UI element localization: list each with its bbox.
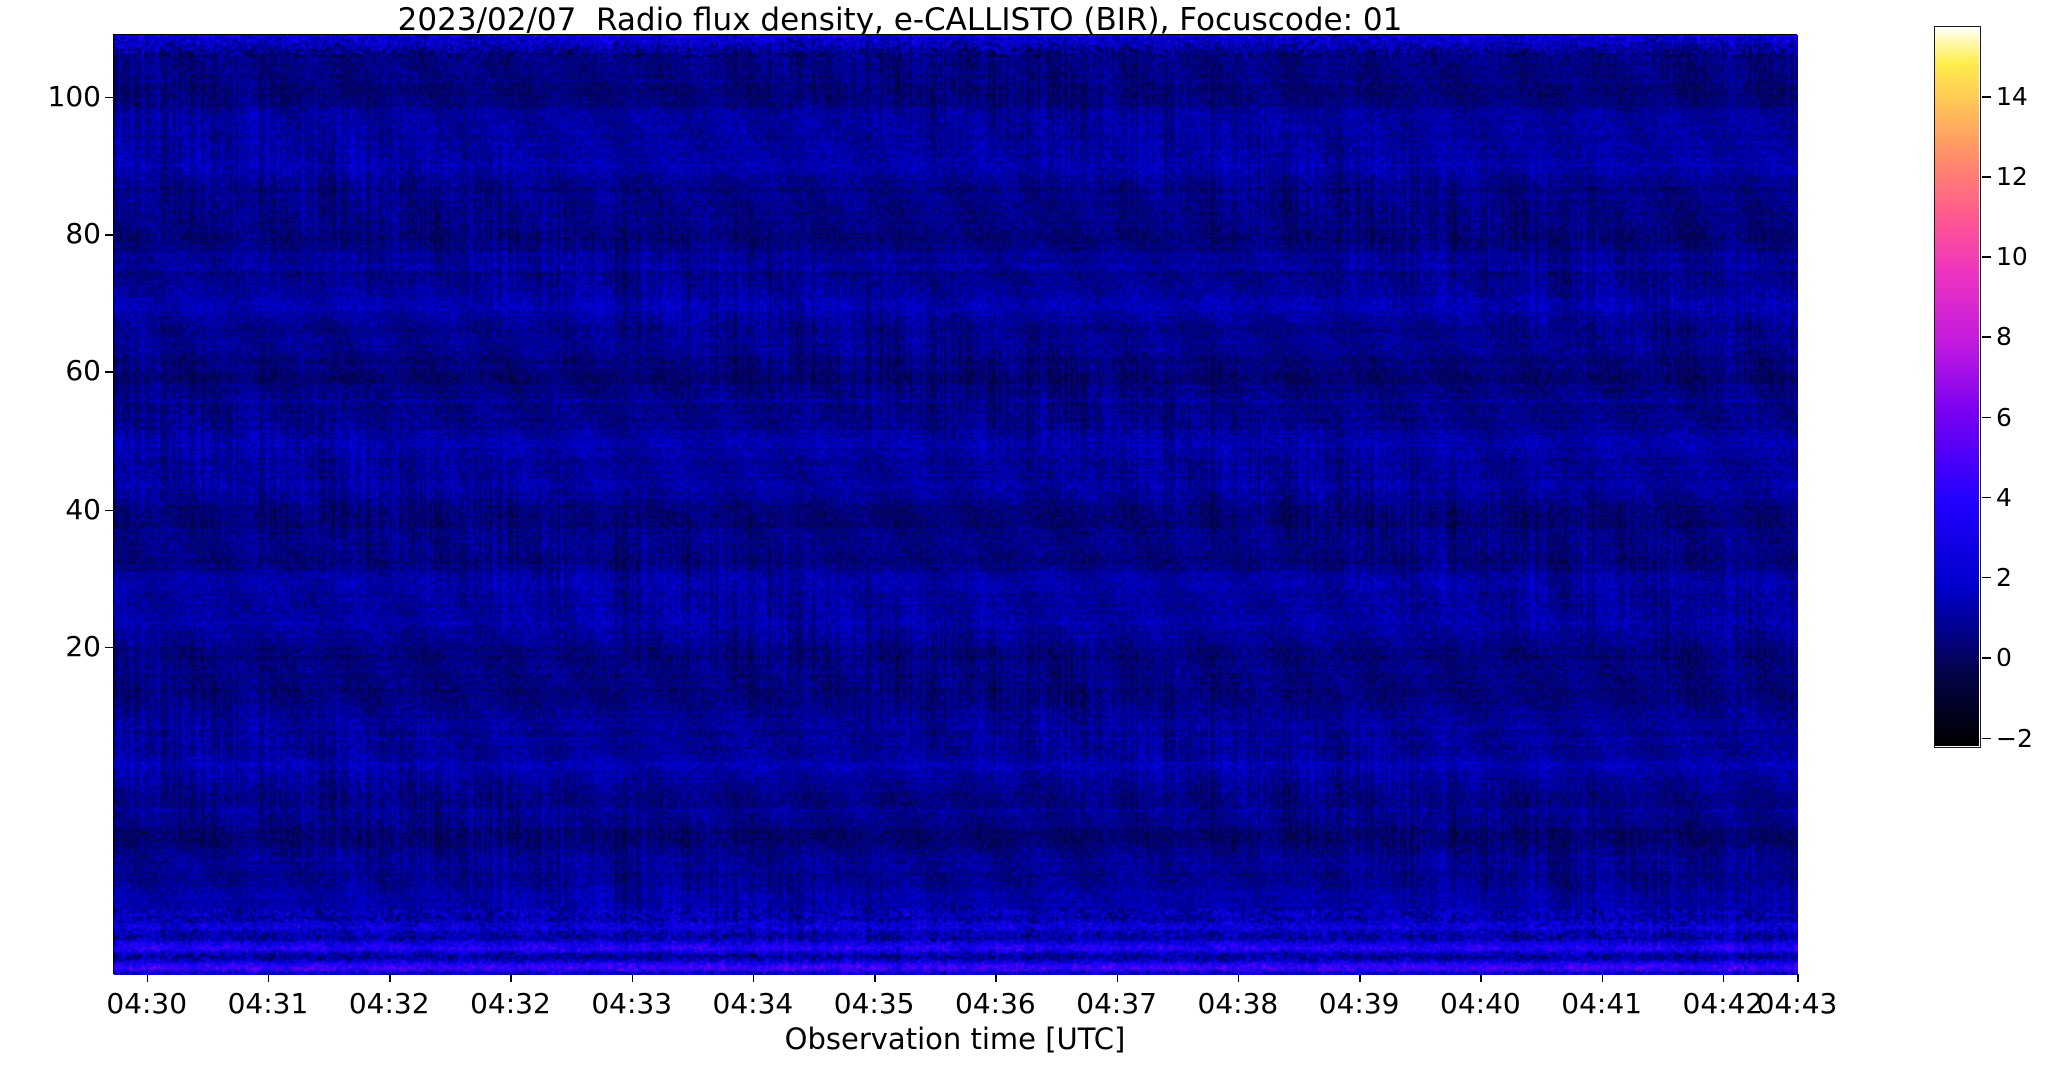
x-tick-mark — [510, 974, 512, 982]
colorbar-tick-mark — [1982, 577, 1991, 579]
colorbar-tick-mark — [1982, 336, 1991, 338]
x-tick-mark — [1723, 974, 1725, 982]
y-tick-label: 40 — [11, 496, 101, 524]
colorbar-gradient — [1935, 27, 1979, 746]
y-tick-mark — [105, 371, 113, 373]
x-tick-label: 04:33 — [567, 990, 697, 1018]
colorbar-tick-label: 14 — [1996, 84, 2028, 109]
figure-canvas: 2023/02/07 Radio flux density, e-CALLIST… — [0, 0, 2066, 1067]
x-tick-mark — [1117, 974, 1119, 982]
y-tick-mark — [105, 647, 113, 649]
x-tick-mark — [1797, 974, 1799, 982]
y-tick-label: 100 — [11, 83, 101, 111]
colorbar-tick-mark — [1982, 497, 1991, 499]
y-tick-mark — [105, 97, 113, 99]
x-tick-label: 04:43 — [1732, 990, 1862, 1018]
y-tick-label: 20 — [11, 633, 101, 661]
x-tick-label: 04:37 — [1052, 990, 1182, 1018]
colorbar-tick-mark — [1982, 738, 1991, 740]
y-tick-mark — [105, 234, 113, 236]
colorbar-tick-label: 8 — [1996, 324, 2012, 349]
y-tick-label: 60 — [11, 357, 101, 385]
x-tick-label: 04:41 — [1537, 990, 1667, 1018]
x-tick-mark — [995, 974, 997, 982]
x-tick-mark — [1238, 974, 1240, 982]
x-tick-mark — [632, 974, 634, 982]
x-tick-label: 04:39 — [1294, 990, 1424, 1018]
x-tick-label: 04:32 — [324, 990, 454, 1018]
x-tick-mark — [147, 974, 149, 982]
x-tick-mark — [268, 974, 270, 982]
colorbar-tick-mark — [1982, 417, 1991, 419]
x-tick-label: 04:38 — [1173, 990, 1303, 1018]
figure-title: 2023/02/07 Radio flux density, e-CALLIST… — [0, 2, 1800, 38]
x-tick-mark — [389, 974, 391, 982]
colorbar-tick-label: 10 — [1996, 244, 2028, 269]
x-tick-label: 04:31 — [203, 990, 333, 1018]
colorbar-tick-label: −2 — [1996, 726, 2033, 751]
y-tick-mark — [105, 510, 113, 512]
x-tick-label: 04:34 — [688, 990, 818, 1018]
x-tick-mark — [874, 974, 876, 982]
x-tick-mark — [1359, 974, 1361, 982]
x-axis-label: Observation time [UTC] — [113, 1022, 1797, 1056]
colorbar-tick-label: 2 — [1996, 565, 2012, 590]
x-tick-label: 04:35 — [809, 990, 939, 1018]
colorbar-tick-mark — [1982, 96, 1991, 98]
x-tick-label: 04:40 — [1415, 990, 1545, 1018]
spectrogram-image — [114, 35, 1798, 975]
x-tick-label: 04:30 — [82, 990, 212, 1018]
colorbar-tick-label: 6 — [1996, 405, 2012, 430]
colorbar-tick-mark — [1982, 256, 1991, 258]
colorbar-tick-mark — [1982, 176, 1991, 178]
colorbar-axes — [1934, 26, 1981, 748]
colorbar-tick-mark — [1982, 657, 1991, 659]
colorbar-tick-label: 0 — [1996, 645, 2012, 670]
spectrogram-axes — [113, 34, 1797, 974]
x-tick-mark — [753, 974, 755, 982]
y-tick-label: 80 — [11, 220, 101, 248]
colorbar-tick-label: 4 — [1996, 485, 2012, 510]
x-tick-mark — [1602, 974, 1604, 982]
colorbar-tick-label: 12 — [1996, 164, 2028, 189]
x-tick-label: 04:36 — [930, 990, 1060, 1018]
x-tick-mark — [1480, 974, 1482, 982]
x-tick-label: 04:32 — [445, 990, 575, 1018]
